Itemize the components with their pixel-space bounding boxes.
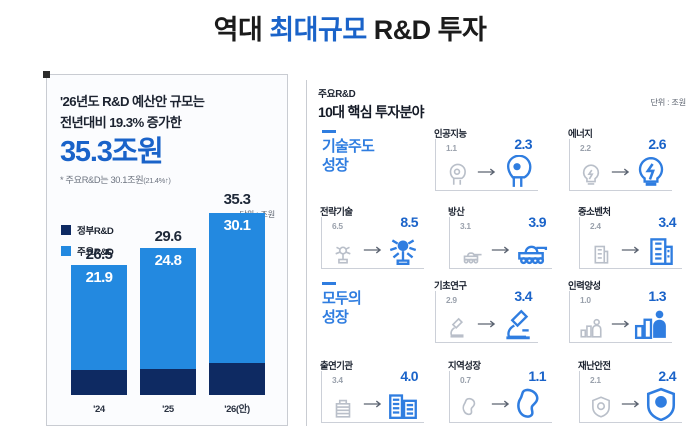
lightbulb-icon xyxy=(578,162,604,188)
card-value-from: 1.0 xyxy=(580,295,591,305)
arrow-right-icon xyxy=(611,319,631,329)
card-value-to: 4.0 xyxy=(400,368,418,384)
bar-total-label: 29.6 xyxy=(140,228,196,245)
arrow-right-icon xyxy=(491,245,511,255)
investment-areas-panel: 주요R&D 10대 핵심 투자분야 단위 : 조원 기술주도 성장 모두의 성장… xyxy=(318,86,690,432)
network-node-icon xyxy=(386,233,420,267)
bar-group: 26.5 21.9 xyxy=(71,265,127,395)
investment-card-regional-growth[interactable]: 지역성장 0.7 1.1 xyxy=(446,358,554,426)
card-axis-vertical xyxy=(579,217,580,269)
card-axis-horizontal xyxy=(579,268,682,269)
arrow-right-icon xyxy=(477,167,497,177)
card-axis-horizontal xyxy=(435,190,538,191)
card-title: 지역성장 xyxy=(448,358,481,372)
investment-card-ai[interactable]: 인공지능 1.1 2.3 xyxy=(432,126,540,194)
card-axis-vertical xyxy=(449,217,450,269)
building-icon xyxy=(644,233,678,267)
right-head-main: 10대 핵심 투자분야 xyxy=(318,102,690,122)
card-axis-horizontal xyxy=(449,268,552,269)
category-dash-icon xyxy=(322,130,336,133)
arrow-right-icon xyxy=(611,167,631,177)
arrow-right-icon xyxy=(621,245,641,255)
card-value-from: 0.7 xyxy=(460,375,471,385)
category-name-line1: 모두의 xyxy=(322,289,400,308)
microscope-icon xyxy=(500,307,534,341)
category-name-line1: 기술주도 xyxy=(322,137,400,156)
shield-check-icon xyxy=(644,387,678,421)
card-value-to: 1.3 xyxy=(648,288,666,304)
title-prefix: 역대 xyxy=(214,15,270,45)
card-value-to: 8.5 xyxy=(400,214,418,230)
card-value-to: 3.4 xyxy=(658,214,676,230)
investment-card-defense[interactable]: 방산 3.1 3.9 xyxy=(446,204,554,272)
arrow-right-icon xyxy=(477,319,497,329)
bar-segment-value: 24.8 xyxy=(140,252,196,269)
card-value-from: 3.1 xyxy=(460,221,471,231)
card-value-to: 2.4 xyxy=(658,368,676,384)
card-title: 출연기관 xyxy=(320,358,353,372)
arrow-right-icon xyxy=(491,399,511,409)
category-name-line2: 성장 xyxy=(322,308,400,327)
lead-line-1: '26년도 R&D 예산안 규모는 xyxy=(60,91,278,112)
budget-summary-panel: '26년도 R&D 예산안 규모는 전년대비 19.3% 증가한 35.3조원 … xyxy=(46,74,288,426)
person-chart-icon xyxy=(578,314,604,340)
bar-group: 29.6 24.8 xyxy=(140,248,196,395)
bar-segment-gov xyxy=(209,363,265,395)
card-title: 에너지 xyxy=(568,126,592,140)
korea-map-icon xyxy=(514,387,548,421)
building-icon xyxy=(588,240,614,266)
office-tower-icon xyxy=(330,394,356,420)
card-axis-vertical xyxy=(321,217,322,269)
panel-divider xyxy=(306,80,307,426)
bar-x-label: '26(안) xyxy=(209,401,265,415)
card-value-from: 2.2 xyxy=(580,143,591,153)
card-title: 중소벤처 xyxy=(578,204,611,218)
card-axis-horizontal xyxy=(579,422,682,423)
category-dash-icon xyxy=(322,282,336,285)
category-name-line2: 성장 xyxy=(322,156,400,175)
card-axis-vertical xyxy=(435,291,436,343)
investment-card-research-institute[interactable]: 출연기관 3.4 4.0 xyxy=(318,358,426,426)
card-value-to: 2.6 xyxy=(648,136,666,152)
investment-card-disaster-safety[interactable]: 재난안전 2.1 2.4 xyxy=(576,358,684,426)
bar-segment-value: 21.9 xyxy=(71,269,127,286)
title-highlight: 최대규모 xyxy=(269,15,366,45)
title-suffix: R&D 투자 xyxy=(367,15,487,45)
page-title: 역대 최대규모 R&D 투자 xyxy=(0,8,700,47)
card-axis-horizontal xyxy=(569,342,672,343)
card-axis-vertical xyxy=(569,291,570,343)
card-value-from: 2.9 xyxy=(446,295,457,305)
microscope-icon xyxy=(444,314,470,340)
infographic-root: 역대 최대규모 R&D 투자 '26년도 R&D 예산안 규모는 전년대비 19… xyxy=(0,0,700,439)
card-value-from: 6.5 xyxy=(332,221,343,231)
card-value-from: 3.4 xyxy=(332,375,343,385)
investment-card-strategic-tech[interactable]: 전략기술 6.5 8.5 xyxy=(318,204,426,272)
office-tower-icon xyxy=(386,387,420,421)
right-head-sub: 주요R&D xyxy=(318,86,690,100)
card-title: 재난안전 xyxy=(578,358,611,372)
bar-total-label: 26.5 xyxy=(71,246,127,263)
bar-x-label: '24 xyxy=(71,404,127,415)
card-axis-vertical xyxy=(449,371,450,423)
stacked-bar-chart: 26.5 21.9 29.6 24.8 xyxy=(57,165,279,417)
bar-segment-main: 21.9 xyxy=(71,265,127,370)
bar-segment-main: 24.8 xyxy=(140,248,196,369)
card-value-to: 1.1 xyxy=(528,368,546,384)
card-value-to: 2.3 xyxy=(514,136,532,152)
lightbulb-icon xyxy=(634,155,668,189)
bar-segment-gov xyxy=(71,370,127,395)
bar-x-label: '25 xyxy=(140,404,196,415)
card-axis-horizontal xyxy=(569,190,672,191)
category-inclusive-growth: 모두의 성장 xyxy=(322,282,400,327)
shield-check-icon xyxy=(588,394,614,420)
tank-icon xyxy=(514,233,548,267)
card-axis-horizontal xyxy=(321,268,424,269)
tank-icon xyxy=(458,240,484,266)
bar-group: 35.3 30.1 xyxy=(209,213,265,395)
card-axis-vertical xyxy=(569,139,570,191)
investment-card-basic-research[interactable]: 기초연구 2.9 3.4 xyxy=(432,278,540,346)
lead-line-2: 전년대비 19.3% 증가한 xyxy=(60,112,278,133)
budget-total-amount: 35.3조원 xyxy=(60,135,278,169)
corner-marker-icon xyxy=(43,71,50,78)
korea-map-icon xyxy=(458,394,484,420)
card-axis-vertical xyxy=(321,371,322,423)
card-title: 방산 xyxy=(448,204,464,218)
network-node-icon xyxy=(330,240,356,266)
card-value-from: 2.4 xyxy=(590,221,601,231)
investment-card-sme-venture[interactable]: 중소벤처 2.4 3.4 xyxy=(576,204,684,272)
card-value-to: 3.4 xyxy=(514,288,532,304)
bar-stack: 24.8 xyxy=(140,248,196,395)
right-unit-label: 단위 : 조원 xyxy=(650,96,686,108)
bar-stack: 21.9 xyxy=(71,265,127,395)
card-title: 인공지능 xyxy=(434,126,467,140)
card-value-to: 3.9 xyxy=(528,214,546,230)
card-axis-horizontal xyxy=(435,342,538,343)
person-chart-icon xyxy=(634,307,668,341)
bar-stack: 30.1 xyxy=(209,213,265,395)
investment-card-energy[interactable]: 에너지 2.2 2.6 xyxy=(566,126,674,194)
category-tech-growth: 기술주도 성장 xyxy=(322,130,400,175)
bar-segment-main: 30.1 xyxy=(209,213,265,363)
card-axis-horizontal xyxy=(449,422,552,423)
card-title: 전략기술 xyxy=(320,204,353,218)
ai-head-icon xyxy=(444,162,470,188)
arrow-right-icon xyxy=(363,399,383,409)
arrow-right-icon xyxy=(621,399,641,409)
bar-total-label: 35.3 xyxy=(209,191,265,208)
card-title: 기초연구 xyxy=(434,278,467,292)
card-axis-horizontal xyxy=(321,422,424,423)
card-value-from: 2.1 xyxy=(590,375,601,385)
bar-segment-value: 30.1 xyxy=(209,217,265,234)
ai-head-icon xyxy=(500,155,534,189)
arrow-right-icon xyxy=(363,245,383,255)
bar-segment-gov xyxy=(140,369,196,395)
card-value-from: 1.1 xyxy=(446,143,457,153)
card-axis-vertical xyxy=(579,371,580,423)
card-title: 인력양성 xyxy=(568,278,601,292)
investment-card-talent[interactable]: 인력양성 1.0 1.3 xyxy=(566,278,674,346)
card-axis-vertical xyxy=(435,139,436,191)
